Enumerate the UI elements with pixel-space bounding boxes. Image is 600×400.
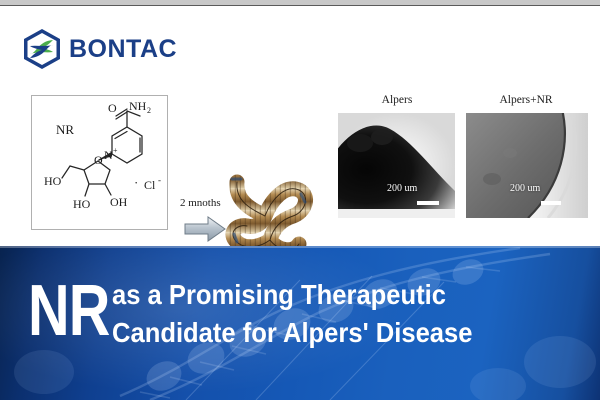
banner-abbr: NR — [28, 278, 110, 344]
micrograph-title-alpers-nr: Alpers+NR — [466, 94, 586, 106]
svg-text:OH: OH — [110, 195, 128, 209]
banner-headline-group: NR as a Promising Therapeutic Candidate … — [28, 276, 588, 352]
banner-headline-line1: as a Promising Therapeutic — [112, 279, 446, 310]
brand-name: BONTAC — [69, 37, 177, 62]
poster-canvas: BONTAC NR — [0, 0, 600, 400]
hexagon-leaf-logo-icon — [22, 28, 62, 70]
micrograph-alpers-nr: 200 um — [466, 113, 588, 218]
banner-headline-line2: Candidate for Alpers' Disease — [112, 314, 472, 352]
svg-text:·: · — [134, 175, 138, 190]
brand-logo[interactable]: BONTAC — [22, 28, 177, 70]
svg-text:O: O — [108, 101, 117, 115]
nicotinamide-riboside-structure-icon: O NH 2 N + O HO HO OH · Cl - — [32, 96, 167, 229]
svg-text:+: + — [113, 146, 118, 155]
figure-panel: NR — [0, 82, 600, 246]
micrograph-alpers: 200 um — [338, 113, 455, 218]
svg-text:HO: HO — [44, 174, 62, 188]
scale-label-alpers-nr: 200 um — [510, 183, 540, 194]
microscopy-image-icon — [466, 113, 588, 218]
title-banner: NR as a Promising Therapeutic Candidate … — [0, 246, 600, 400]
top-divider — [0, 5, 600, 6]
banner-headline: as a Promising Therapeutic Candidate for… — [112, 276, 472, 352]
svg-text:Cl: Cl — [144, 178, 156, 192]
scale-bar-alpers-nr — [541, 201, 561, 205]
scale-bar-alpers — [417, 201, 439, 205]
svg-text:O: O — [94, 153, 103, 167]
scale-label-alpers: 200 um — [387, 183, 417, 194]
svg-text:HO: HO — [73, 197, 91, 211]
nr-structure-panel: NR — [31, 95, 168, 230]
micrograph-title-alpers: Alpers — [342, 94, 452, 106]
svg-text:N: N — [104, 148, 113, 162]
svg-text:NH: NH — [129, 99, 147, 113]
svg-text:2: 2 — [147, 106, 151, 115]
svg-text:-: - — [158, 175, 161, 185]
